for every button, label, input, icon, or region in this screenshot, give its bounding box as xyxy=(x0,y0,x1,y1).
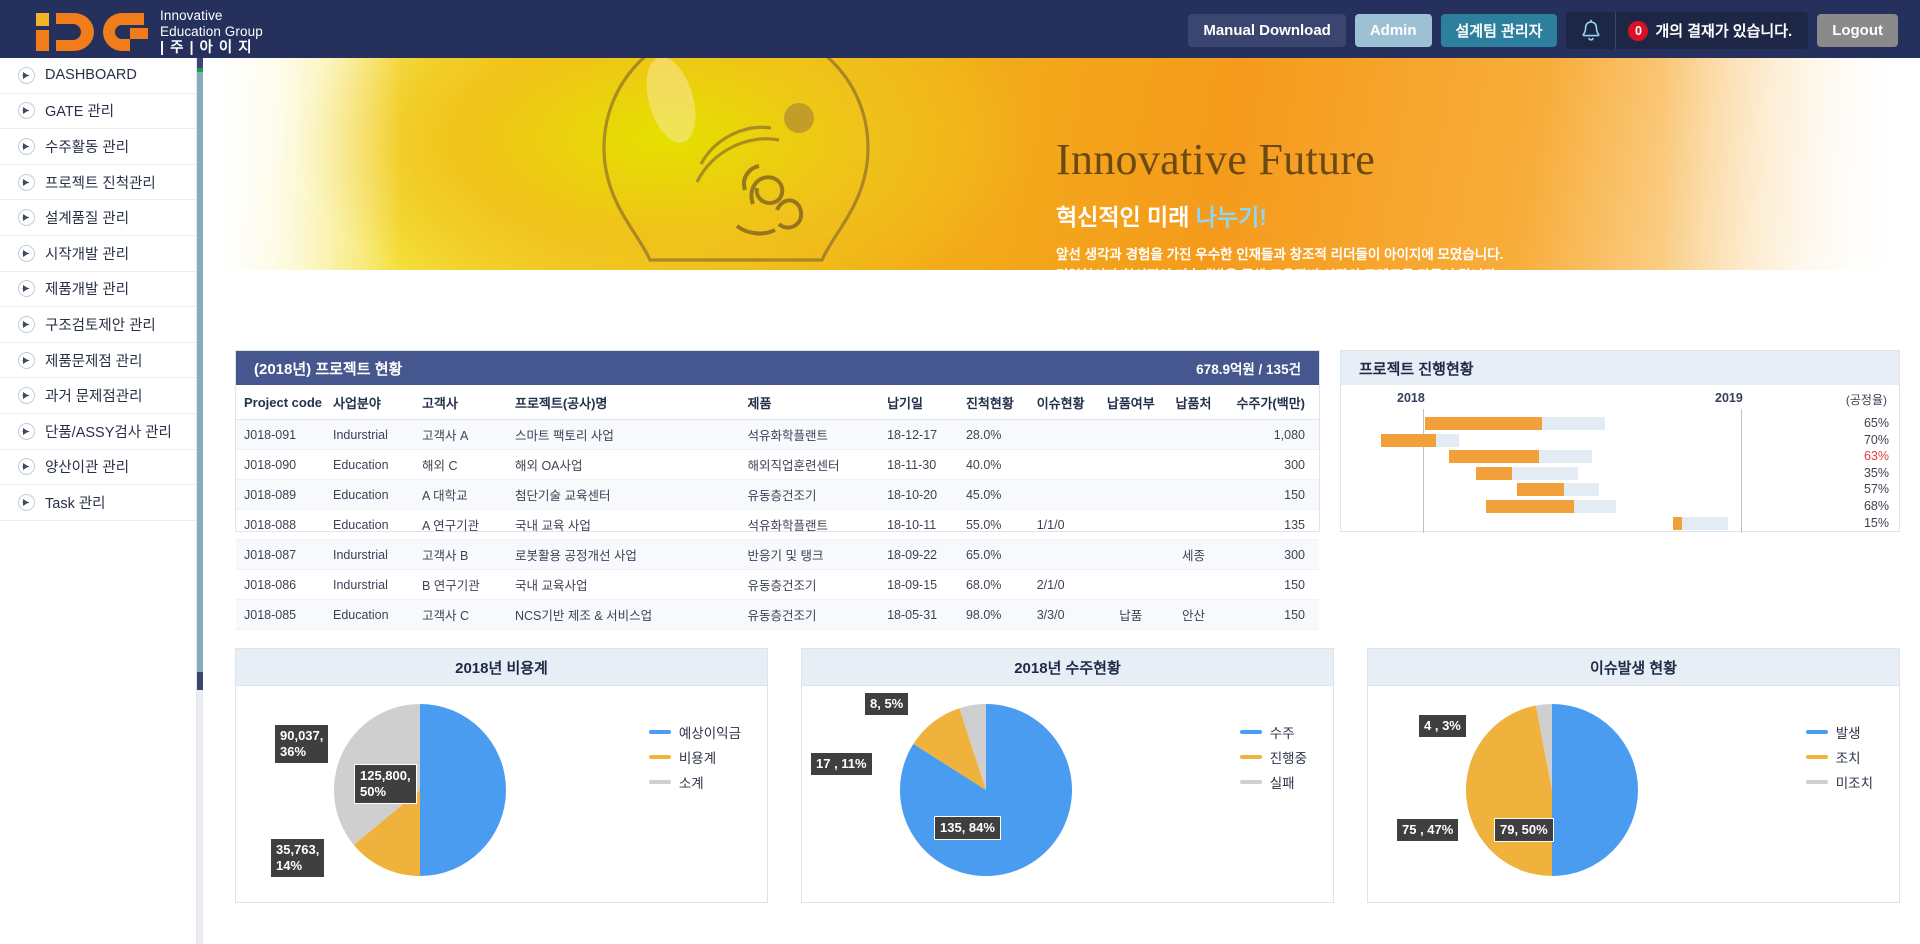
gantt-bar-fill xyxy=(1425,417,1542,430)
cell-field: Education xyxy=(325,450,414,480)
order-pie-title: 2018년 수주현황 xyxy=(1014,657,1121,678)
table-row[interactable]: J018-089EducationA 대학교첨단기술 교육센터유동층건조기18-… xyxy=(236,480,1319,510)
cell-product: 석유화학플랜트 xyxy=(740,510,880,540)
gantt-bar-fill xyxy=(1476,467,1512,480)
cell-client: 고객사 C xyxy=(414,600,507,630)
cell-delivered xyxy=(1097,510,1160,540)
project-col-header: Project code xyxy=(236,385,325,420)
table-row[interactable]: J018-090Education해외 C해외 OA사업해외직업훈련센터18-1… xyxy=(236,450,1319,480)
project-col-header: 진척현황 xyxy=(958,385,1029,420)
logo-line-3: | 주 | 아 이 지 xyxy=(160,40,263,57)
hero-desc-line-2: 경영혁신과 혁신적인 기술개발을 통해 교육장비 시장의 트렌드를 만들어 갑니… xyxy=(1056,266,1503,270)
main-content: Innovative Future 혁신적인 미래 나누기! 앞선 생각과 경험… xyxy=(203,58,1920,944)
legend-label: 발생 xyxy=(1836,722,1861,742)
arrow-right-icon xyxy=(18,352,35,369)
legend-swatch-icon xyxy=(649,730,671,734)
table-row[interactable]: J018-086IndurstrialB 연구기관국내 교육사업유동층건조기18… xyxy=(236,570,1319,600)
cell-client: A 대학교 xyxy=(414,480,507,510)
legend-item[interactable]: 조치 xyxy=(1806,747,1873,767)
sidebar-item-label: 단품/ASSY검사 관리 xyxy=(45,421,172,442)
sidebar-item-label: 구조검토제안 관리 xyxy=(45,314,156,335)
legend-label: 조치 xyxy=(1836,747,1861,767)
sidebar-item-9[interactable]: 과거 문제점관리 xyxy=(0,378,196,414)
arrow-right-icon xyxy=(18,316,35,333)
cell-price: 300 xyxy=(1223,540,1319,570)
sidebar-item-label: 제품문제점 관리 xyxy=(45,350,142,371)
bell-icon[interactable] xyxy=(1566,12,1616,49)
pie-data-label-0: 125,800, 50% xyxy=(354,764,417,804)
notification-message: 0 개의 결재가 있습니다. xyxy=(1616,12,1808,49)
gantt-progress-label: 15% xyxy=(1837,516,1889,530)
gantt-bar-fill xyxy=(1449,450,1539,463)
gantt-progress-label: 63% xyxy=(1837,449,1889,463)
gantt-progress-label: 35% xyxy=(1837,466,1889,480)
cell-due: 18-09-15 xyxy=(879,570,958,600)
pie-data-label-0: 135, 84% xyxy=(934,816,1001,840)
legend-label: 미조치 xyxy=(1836,772,1873,792)
cell-price: 150 xyxy=(1223,600,1319,630)
cell-dest xyxy=(1160,570,1223,600)
cell-progress: 28.0% xyxy=(958,420,1029,450)
legend-label: 실패 xyxy=(1270,772,1295,792)
arrow-right-icon xyxy=(18,245,35,262)
cell-issue xyxy=(1029,420,1098,450)
project-col-header: 프로젝트(공사)명 xyxy=(507,385,740,420)
cell-client: 해외 C xyxy=(414,450,507,480)
pie-chart-svg xyxy=(1460,698,1644,887)
legend-swatch-icon xyxy=(649,780,671,784)
cell-progress: 40.0% xyxy=(958,450,1029,480)
hero-copy: Innovative Future 혁신적인 미래 나누기! 앞선 생각과 경험… xyxy=(1056,136,1503,270)
legend-label: 수주 xyxy=(1270,722,1295,742)
cell-product: 유동층건조기 xyxy=(740,480,880,510)
sidebar-item-label: 시작개발 관리 xyxy=(45,243,129,264)
table-row[interactable]: J018-087Indurstrial고객사 B로봇활용 공정개선 사업반응기 … xyxy=(236,540,1319,570)
table-row[interactable]: J018-091Indurstrial고객사 A스마트 팩토리 사업석유화학플랜… xyxy=(236,420,1319,450)
arrow-right-icon xyxy=(18,138,35,155)
gantt-bar-track xyxy=(1486,500,1615,513)
cell-dest xyxy=(1160,420,1223,450)
cell-due: 18-09-22 xyxy=(879,540,958,570)
cell-field: Education xyxy=(325,510,414,540)
legend-item[interactable]: 소계 xyxy=(649,772,741,792)
arrow-right-icon xyxy=(18,423,35,440)
project-col-header: 사업분야 xyxy=(325,385,414,420)
cell-issue xyxy=(1029,450,1098,480)
gantt-bar-fill xyxy=(1673,517,1681,530)
legend-swatch-icon xyxy=(1240,780,1262,784)
project-status-panel: (2018년) 프로젝트 현황 678.9억원 / 135건 Project c… xyxy=(235,350,1320,532)
legend-swatch-icon xyxy=(1806,755,1828,759)
cell-name: 첨단기술 교육센터 xyxy=(507,480,740,510)
cell-dest xyxy=(1160,480,1223,510)
gantt-bar-track xyxy=(1381,434,1459,447)
gantt-bar-row[interactable]: 57% xyxy=(1341,483,1899,496)
gantt-progress-label: 68% xyxy=(1837,499,1889,513)
pie-slice-1[interactable] xyxy=(1466,706,1552,876)
sidebar-nav: DASHBOARDGATE 관리수주활동 관리프로젝트 진척관리설계품질 관리시… xyxy=(0,58,197,944)
cost-pie-header: 2018년 비용계 xyxy=(236,649,767,686)
admin-button[interactable]: Admin xyxy=(1355,14,1432,47)
row-projects: (2018년) 프로젝트 현황 678.9억원 / 135건 Project c… xyxy=(235,350,1900,532)
arrow-right-icon xyxy=(18,387,35,404)
pie-legend: 예상이익금비용계소계 xyxy=(649,722,741,792)
project-table: Project code사업분야고객사프로젝트(공사)명제품납기일진척현황이슈현… xyxy=(236,385,1319,630)
notification-group[interactable]: 0 개의 결재가 있습니다. xyxy=(1566,12,1808,49)
cell-price: 150 xyxy=(1223,570,1319,600)
cell-name: 로봇활용 공정개선 사업 xyxy=(507,540,740,570)
idg-logo-icon xyxy=(34,11,152,53)
sidebar-item-0[interactable]: DASHBOARD xyxy=(0,58,196,94)
pie-data-label-2: 4 , 3% xyxy=(1418,714,1467,738)
pie-legend: 발생조치미조치 xyxy=(1806,722,1873,792)
gantt-bar-row[interactable]: 15% xyxy=(1341,517,1899,530)
cost-pie-panel: 2018년 비용계 예상이익금비용계소계125,800, 50%35,763, … xyxy=(235,648,768,903)
cell-field: Indurstrial xyxy=(325,420,414,450)
cell-price: 150 xyxy=(1223,480,1319,510)
pie-data-label-1: 35,763, 14% xyxy=(270,838,325,878)
cell-field: Education xyxy=(325,600,414,630)
cell-issue: 1/1/0 xyxy=(1029,510,1098,540)
hero-description: 앞선 생각과 경험을 가진 우수한 인재들과 창조적 리더들이 아이지에 모였습… xyxy=(1056,245,1503,270)
gantt-bar-fill xyxy=(1486,500,1574,513)
sidebar-item-12[interactable]: Task 관리 xyxy=(0,485,196,521)
gantt-bar-track xyxy=(1517,483,1599,496)
arrow-right-icon xyxy=(18,494,35,511)
cell-client: 고객사 A xyxy=(414,420,507,450)
cell-progress: 45.0% xyxy=(958,480,1029,510)
issue-pie-header: 이슈발생 현황 xyxy=(1368,649,1899,686)
cell-delivered: 납품 xyxy=(1097,600,1160,630)
cell-price: 1,080 xyxy=(1223,420,1319,450)
sidebar-item-10[interactable]: 단품/ASSY검사 관리 xyxy=(0,414,196,450)
gantt-bar-row[interactable]: 35% xyxy=(1341,467,1899,480)
gantt-bar-track xyxy=(1449,450,1592,463)
gantt-bar-track xyxy=(1476,467,1578,480)
gantt-bar-fill xyxy=(1517,483,1564,496)
dashboard-page: Innovative Education Group | 주 | 아 이 지 M… xyxy=(0,0,1920,944)
legend-swatch-icon xyxy=(1240,755,1262,759)
pie-data-label-2: 8, 5% xyxy=(864,692,909,716)
gantt-progress-label: 65% xyxy=(1837,416,1889,430)
issue-pie-title: 이슈발생 현황 xyxy=(1590,657,1677,678)
gantt-bar-row[interactable]: 68% xyxy=(1341,500,1899,513)
project-table-header-row: Project code사업분야고객사프로젝트(공사)명제품납기일진척현황이슈현… xyxy=(236,385,1319,420)
cell-due: 18-10-20 xyxy=(879,480,958,510)
project-table-body: J018-091Indurstrial고객사 A스마트 팩토리 사업석유화학플랜… xyxy=(236,420,1319,630)
logout-button[interactable]: Logout xyxy=(1817,14,1898,47)
pie-chart-svg xyxy=(894,698,1078,887)
sidebar-item-4[interactable]: 설계품질 관리 xyxy=(0,200,196,236)
row-charts: 2018년 비용계 예상이익금비용계소계125,800, 50%35,763, … xyxy=(235,648,1900,903)
gantt-panel-header: 프로젝트 진행현황 xyxy=(1341,351,1899,385)
cell-product: 반응기 및 탱크 xyxy=(740,540,880,570)
project-panel-header: (2018년) 프로젝트 현황 678.9억원 / 135건 xyxy=(236,351,1319,385)
order-pie-body: 수주진행중실패135, 84%17 , 11%8, 5% xyxy=(802,686,1333,903)
cell-client: B 연구기관 xyxy=(414,570,507,600)
issue-pie-panel: 이슈발생 현황 발생조치미조치79, 50%75 , 47%4 , 3% xyxy=(1367,648,1900,903)
pie-slice-0[interactable] xyxy=(1552,704,1638,876)
cell-delivered xyxy=(1097,480,1160,510)
cell-issue: 2/1/0 xyxy=(1029,570,1098,600)
hero-desc-line-1: 앞선 생각과 경험을 가진 우수한 인재들과 창조적 리더들이 아이지에 모였습… xyxy=(1056,245,1503,266)
cell-field: Indurstrial xyxy=(325,570,414,600)
hero-right-fade xyxy=(1661,58,1891,270)
lightbulb-illustration-icon xyxy=(501,58,971,270)
cell-due: 18-10-11 xyxy=(879,510,958,540)
cell-issue xyxy=(1029,540,1098,570)
top-bar-actions: Manual Download Admin 설계팀 관리자 0 개의 결재가 있… xyxy=(1188,12,1898,49)
gantt-chart: 2018 2019 (공정율) 65%70%63%35%57%68%15% xyxy=(1341,385,1899,533)
sidebar-item-3[interactable]: 프로젝트 진척관리 xyxy=(0,165,196,201)
logo-line-1: Innovative xyxy=(160,8,263,24)
project-col-header: 고객사 xyxy=(414,385,507,420)
gantt-bar-row[interactable]: 63% xyxy=(1341,450,1899,463)
cell-progress: 68.0% xyxy=(958,570,1029,600)
legend-item[interactable]: 예상이익금 xyxy=(649,722,741,742)
arrow-right-icon xyxy=(18,280,35,297)
pie-slice-0[interactable] xyxy=(420,704,506,876)
project-panel-title: (2018년) 프로젝트 현황 xyxy=(254,358,402,379)
top-bar: Innovative Education Group | 주 | 아 이 지 M… xyxy=(0,0,1920,58)
gantt-bar-fill xyxy=(1381,434,1436,447)
cell-price: 300 xyxy=(1223,450,1319,480)
legend-item[interactable]: 수주 xyxy=(1240,722,1307,742)
sidebar-item-label: GATE 관리 xyxy=(45,100,114,121)
sidebar-item-1[interactable]: GATE 관리 xyxy=(0,94,196,130)
legend-swatch-icon xyxy=(1240,730,1262,734)
cell-delivered xyxy=(1097,570,1160,600)
cell-issue: 3/3/0 xyxy=(1029,600,1098,630)
cell-product: 석유화학플랜트 xyxy=(740,420,880,450)
cell-name: 국내 교육사업 xyxy=(507,570,740,600)
sidebar-item-label: 과거 문제점관리 xyxy=(45,385,142,406)
arrow-right-icon xyxy=(18,67,35,84)
sidebar-item-label: 수주활동 관리 xyxy=(45,136,129,157)
cell-code: J018-086 xyxy=(236,570,325,600)
hero-subtitle: 혁신적인 미래 나누기! xyxy=(1056,198,1503,232)
gantt-axis-label-2018: 2018 xyxy=(1397,391,1425,405)
gantt-bar-track xyxy=(1425,417,1605,430)
arrow-right-icon xyxy=(18,458,35,475)
sidebar-item-label: Task 관리 xyxy=(45,492,106,513)
cell-code: J018-091 xyxy=(236,420,325,450)
project-col-header: 제품 xyxy=(740,385,880,420)
legend-label: 비용계 xyxy=(679,747,716,767)
notification-text: 개의 결재가 있습니다. xyxy=(1655,20,1792,41)
order-pie-header: 2018년 수주현황 xyxy=(802,649,1333,686)
cell-delivered xyxy=(1097,420,1160,450)
sidebar-item-label: DASHBOARD xyxy=(45,67,137,83)
sidebar-item-label: 양산이관 관리 xyxy=(45,456,129,477)
cell-name: NCS기반 제조 & 서비스업 xyxy=(507,600,740,630)
sidebar-item-8[interactable]: 제품문제점 관리 xyxy=(0,343,196,379)
project-col-header: 납기일 xyxy=(879,385,958,420)
cell-delivered xyxy=(1097,450,1160,480)
project-progress-panel: 프로젝트 진행현황 2018 2019 (공정율) 65%70%63%35%57… xyxy=(1340,350,1900,532)
arrow-right-icon xyxy=(18,174,35,191)
project-col-header: 이슈현황 xyxy=(1029,385,1098,420)
gantt-axis-label-2019: 2019 xyxy=(1715,391,1743,405)
cell-field: Education xyxy=(325,480,414,510)
project-col-header: 납품여부 xyxy=(1097,385,1160,420)
hero-subtitle-highlight: 나누기! xyxy=(1196,204,1267,230)
sidebar-item-6[interactable]: 제품개발 관리 xyxy=(0,272,196,308)
pie-data-label-1: 75 , 47% xyxy=(1396,818,1459,842)
cell-code: J018-087 xyxy=(236,540,325,570)
sidebar-item-label: 설계품질 관리 xyxy=(45,207,129,228)
pie-data-label-1: 17 , 11% xyxy=(810,752,873,776)
gantt-bar-row[interactable]: 70% xyxy=(1341,434,1899,447)
cell-progress: 65.0% xyxy=(958,540,1029,570)
sidebar-item-2[interactable]: 수주활동 관리 xyxy=(0,129,196,165)
legend-label: 예상이익금 xyxy=(679,722,741,742)
sidebar-item-5[interactable]: 시작개발 관리 xyxy=(0,236,196,272)
legend-label: 진행중 xyxy=(1270,747,1307,767)
cell-delivered xyxy=(1097,540,1160,570)
order-pie-panel: 2018년 수주현황 수주진행중실패135, 84%17 , 11%8, 5% xyxy=(801,648,1334,903)
sidebar-item-7[interactable]: 구조검토제안 관리 xyxy=(0,307,196,343)
legend-swatch-icon xyxy=(649,755,671,759)
hero-title: Innovative Future xyxy=(1056,136,1503,184)
legend-swatch-icon xyxy=(1806,780,1828,784)
table-row[interactable]: J018-085Education고객사 CNCS기반 제조 & 서비스업유동층… xyxy=(236,600,1319,630)
legend-item[interactable]: 비용계 xyxy=(649,747,741,767)
hero-banner: Innovative Future 혁신적인 미래 나누기! 앞선 생각과 경험… xyxy=(211,58,1891,270)
gantt-unit-label: (공정율) xyxy=(1846,391,1887,408)
legend-item[interactable]: 실패 xyxy=(1240,772,1307,792)
arrow-right-icon xyxy=(18,209,35,226)
pie-data-label-2: 90,037, 36% xyxy=(274,724,329,764)
cell-price: 135 xyxy=(1223,510,1319,540)
cell-dest xyxy=(1160,510,1223,540)
cell-name: 해외 OA사업 xyxy=(507,450,740,480)
cell-code: J018-085 xyxy=(236,600,325,630)
sidebar-item-11[interactable]: 양산이관 관리 xyxy=(0,450,196,486)
cell-client: 고객사 B xyxy=(414,540,507,570)
pie-legend: 수주진행중실패 xyxy=(1240,722,1307,792)
gantt-bar-row[interactable]: 65% xyxy=(1341,417,1899,430)
table-row[interactable]: J018-088EducationA 연구기관국내 교육 사업석유화학플랜트18… xyxy=(236,510,1319,540)
cell-product: 해외직업훈련센터 xyxy=(740,450,880,480)
cell-due: 18-11-30 xyxy=(879,450,958,480)
cell-dest: 안산 xyxy=(1160,600,1223,630)
project-col-header: 납품처 xyxy=(1160,385,1223,420)
project-col-header: 수주가(백만) xyxy=(1223,385,1319,420)
pie-data-label-0: 79, 50% xyxy=(1494,818,1554,842)
project-panel-summary: 678.9억원 / 135건 xyxy=(1196,358,1301,378)
cell-code: J018-090 xyxy=(236,450,325,480)
cell-field: Indurstrial xyxy=(325,540,414,570)
sidebar-item-label: 프로젝트 진척관리 xyxy=(45,172,156,193)
notification-count-badge: 0 xyxy=(1628,21,1648,41)
legend-item[interactable]: 발생 xyxy=(1806,722,1873,742)
cell-product: 유동층건조기 xyxy=(740,600,880,630)
issue-pie-body: 발생조치미조치79, 50%75 , 47%4 , 3% xyxy=(1368,686,1899,903)
manual-download-button[interactable]: Manual Download xyxy=(1188,14,1346,47)
arrow-right-icon xyxy=(18,102,35,119)
app-logo[interactable]: Innovative Education Group | 주 | 아 이 지 xyxy=(34,8,263,57)
logo-line-2: Education Group xyxy=(160,24,263,40)
cell-due: 18-05-31 xyxy=(879,600,958,630)
legend-item[interactable]: 진행중 xyxy=(1240,747,1307,767)
cell-progress: 55.0% xyxy=(958,510,1029,540)
cell-issue xyxy=(1029,480,1098,510)
gantt-panel-title: 프로젝트 진행현황 xyxy=(1359,358,1474,379)
cell-dest xyxy=(1160,450,1223,480)
cell-client: A 연구기관 xyxy=(414,510,507,540)
cost-pie-body: 예상이익금비용계소계125,800, 50%35,763, 14%90,037,… xyxy=(236,686,767,903)
cell-code: J018-088 xyxy=(236,510,325,540)
hero-left-fade xyxy=(211,58,401,270)
gantt-progress-label: 57% xyxy=(1837,482,1889,496)
sidebar-item-label: 제품개발 관리 xyxy=(45,278,129,299)
cost-pie-title: 2018년 비용계 xyxy=(455,657,548,678)
cell-name: 스마트 팩토리 사업 xyxy=(507,420,740,450)
cell-code: J018-089 xyxy=(236,480,325,510)
cell-product: 유동층건조기 xyxy=(740,570,880,600)
gantt-progress-label: 70% xyxy=(1837,433,1889,447)
cell-progress: 98.0% xyxy=(958,600,1029,630)
gantt-bar-track xyxy=(1673,517,1727,530)
legend-label: 소계 xyxy=(679,772,704,792)
cell-due: 18-12-17 xyxy=(879,420,958,450)
cell-name: 국내 교육 사업 xyxy=(507,510,740,540)
sidebar-filler xyxy=(0,521,196,533)
legend-item[interactable]: 미조치 xyxy=(1806,772,1873,792)
hero-subtitle-main: 혁신적인 미래 xyxy=(1056,204,1196,230)
design-team-manager-button[interactable]: 설계팀 관리자 xyxy=(1441,14,1558,47)
legend-swatch-icon xyxy=(1806,730,1828,734)
cell-dest: 세종 xyxy=(1160,540,1223,570)
